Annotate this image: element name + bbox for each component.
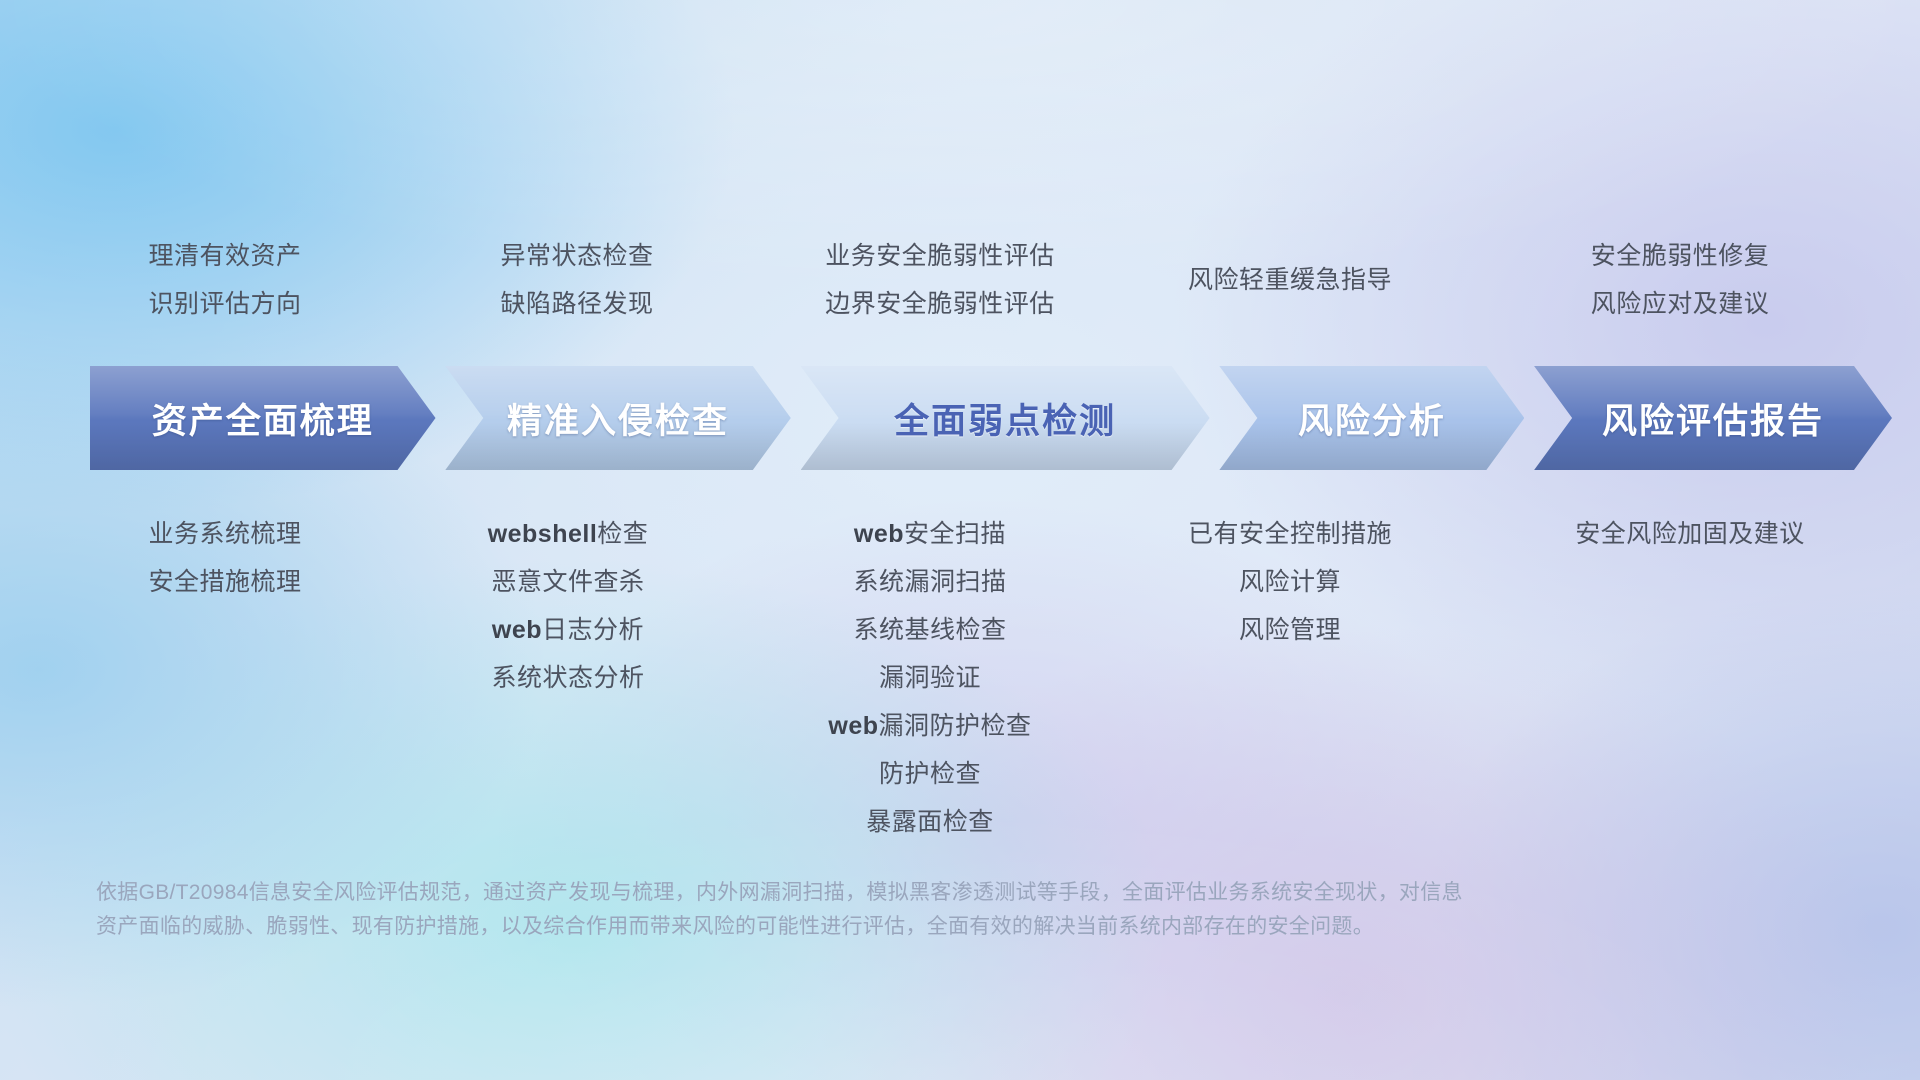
list-item-text: 安全措施梳理	[148, 568, 301, 596]
stage-title-asset-inventory: 资产全面梳理	[152, 393, 374, 444]
list-item-text: 暴露面检查	[866, 808, 994, 836]
footer-line-1: 依据GB/T20984信息安全风险评估规范，通过资产发现与梳理，内外网漏洞扫描，…	[96, 876, 1736, 910]
list-item-text: 漏洞防护检查	[879, 712, 1032, 740]
stage-title-intrusion-check: 精准入侵检查	[507, 393, 729, 444]
list-item: 风险管理	[1030, 606, 1550, 654]
stage-title-assessment-report: 风险评估报告	[1602, 393, 1824, 444]
process-flow-diagram: 理清有效资产识别评估方向异常状态检查缺陷路径发现业务安全脆弱性评估边界安全脆弱性…	[0, 0, 1920, 1080]
list-item-text: 防护检查	[879, 760, 981, 788]
list-item-text: 风险计算	[1239, 568, 1341, 596]
list-item-text: 检查	[597, 520, 648, 548]
list-item: 安全脆弱性修复	[1420, 232, 1920, 280]
stage-chevron-assessment-report[interactable]: 风险评估报告	[1534, 366, 1892, 470]
footer-description: 依据GB/T20984信息安全风险评估规范，通过资产发现与梳理，内外网漏洞扫描，…	[96, 876, 1736, 944]
list-item-text: 日志分析	[542, 616, 644, 644]
list-item-text: 安全扫描	[904, 520, 1006, 548]
footer-line-2: 资产面临的威胁、脆弱性、现有防护措施，以及综合作用而带来风险的可能性进行评估，全…	[96, 910, 1736, 944]
stage-chevron-weakness-detection[interactable]: 全面弱点检测	[801, 366, 1210, 470]
stage-chevron-risk-analysis[interactable]: 风险分析	[1219, 366, 1524, 470]
list-item: 风险应对及建议	[1420, 280, 1920, 328]
list-item-text: 系统漏洞扫描	[853, 568, 1006, 596]
emphasis-token: web	[854, 520, 904, 548]
list-item: 安全风险加固及建议	[1430, 510, 1920, 558]
list-item: web漏洞防护检查	[670, 702, 1190, 750]
list-item-text: 风险管理	[1239, 616, 1341, 644]
bottom-column-assessment-report: 安全风险加固及建议	[1430, 510, 1920, 558]
top-column-assessment-report: 安全脆弱性修复风险应对及建议	[1420, 232, 1920, 328]
stage-chevron-ribbon: 资产全面梳理精准入侵检查全面弱点检测风险分析风险评估报告	[90, 366, 1892, 470]
emphasis-token: web	[492, 616, 542, 644]
emphasis-token: web	[828, 712, 878, 740]
emphasis-token: webshell	[488, 520, 598, 548]
stage-chevron-intrusion-check[interactable]: 精准入侵检查	[445, 366, 791, 470]
list-item-text: 漏洞验证	[879, 664, 981, 692]
list-item-text: 业务系统梳理	[148, 520, 301, 548]
list-item: 漏洞验证	[670, 654, 1190, 702]
list-item: 暴露面检查	[670, 798, 1190, 846]
list-item-text: 安全风险加固及建议	[1575, 520, 1805, 548]
stage-chevron-asset-inventory[interactable]: 资产全面梳理	[90, 366, 436, 470]
list-item-text: 已有安全控制措施	[1188, 520, 1392, 548]
list-item: 防护检查	[670, 750, 1190, 798]
list-item: 风险计算	[1030, 558, 1550, 606]
list-item-text: 恶意文件查杀	[491, 568, 644, 596]
stage-title-weakness-detection: 全面弱点检测	[894, 393, 1116, 444]
stage-title-risk-analysis: 风险分析	[1298, 393, 1446, 444]
list-item-text: 系统基线检查	[853, 616, 1006, 644]
list-item-text: 系统状态分析	[491, 664, 644, 692]
